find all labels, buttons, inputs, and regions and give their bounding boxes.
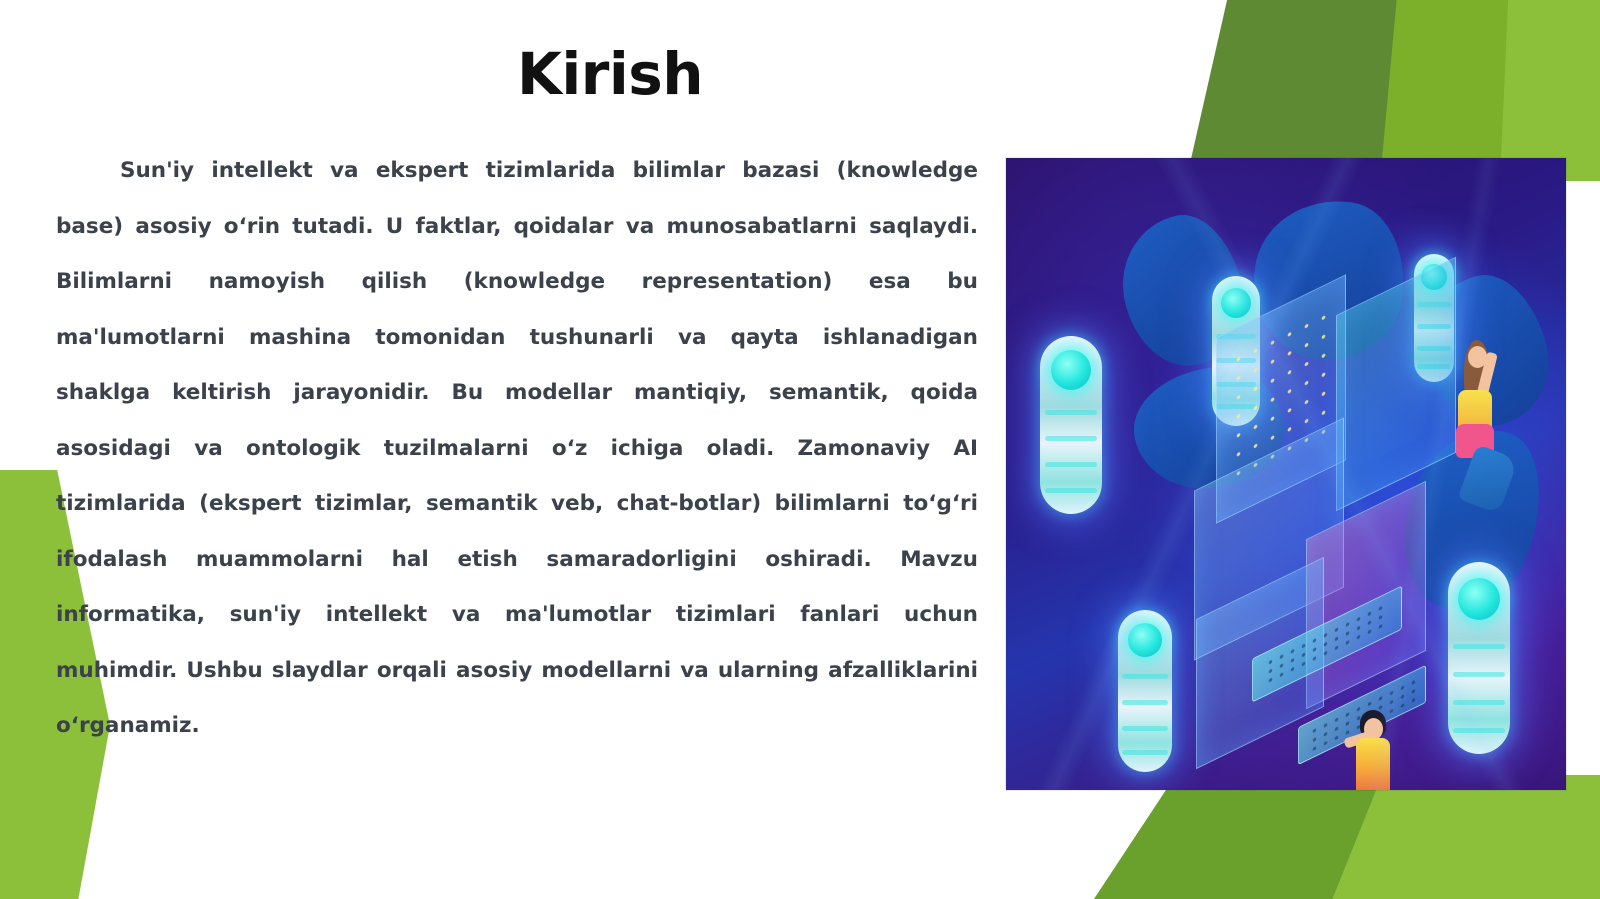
server-capsule-right-lower	[1448, 562, 1510, 754]
person-figure-woman	[1438, 334, 1538, 504]
slide-body-paragraph: Sun'iy intellekt va ekspert tizimlarida …	[56, 143, 978, 754]
slide-canvas: Kirish Sun'iy intellekt va ekspert tizim…	[0, 0, 1600, 899]
illustration-ai-knowledge-base	[1006, 158, 1566, 790]
slide-title: Kirish	[0, 40, 1220, 108]
person-figure-man	[1338, 710, 1428, 790]
server-capsule-left-lower	[1118, 610, 1172, 772]
decor-shape-top-right-light	[1500, 0, 1600, 181]
server-capsule-left-upper	[1040, 336, 1102, 514]
